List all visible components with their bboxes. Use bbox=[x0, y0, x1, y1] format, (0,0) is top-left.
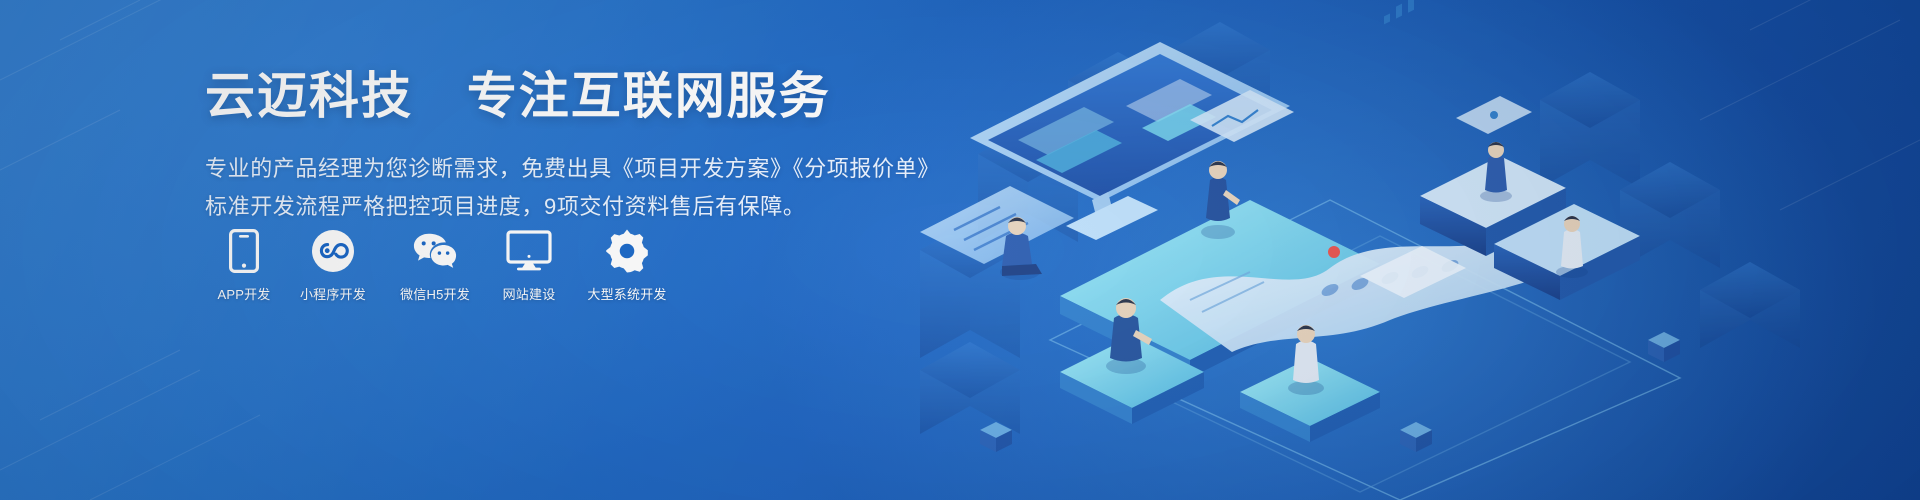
mobile-phone-icon bbox=[221, 228, 267, 274]
hero-banner: 云迈科技 专注互联网服务 专业的产品经理为您诊断需求，免费出具《项目开发方案》《… bbox=[0, 0, 1920, 500]
gear-icon bbox=[604, 228, 650, 274]
service-label: 大型系统开发 bbox=[587, 288, 666, 301]
subtitle-line-2: 标准开发流程严格把控项目进度，9项交付资料售后有保障。 bbox=[205, 188, 925, 226]
page-title: 云迈科技 专注互联网服务 bbox=[205, 68, 925, 124]
monitor-icon bbox=[506, 228, 552, 274]
service-label: 微信H5开发 bbox=[400, 288, 470, 301]
headline-tagline: 专注互联网服务 bbox=[467, 68, 831, 124]
floating-widget bbox=[1456, 96, 1532, 134]
service-item-website[interactable]: 网站建设 bbox=[487, 228, 571, 301]
headline-brand: 云迈科技 bbox=[205, 68, 413, 124]
wechat-icon bbox=[412, 228, 458, 274]
service-label: 小程序开发 bbox=[300, 288, 366, 301]
service-label: APP开发 bbox=[217, 288, 270, 301]
service-list: APP开发 小程序开发 bbox=[205, 228, 683, 301]
service-item-enterprise-system[interactable]: 大型系统开发 bbox=[571, 228, 683, 301]
mini-program-icon bbox=[310, 228, 356, 274]
service-label: 网站建设 bbox=[503, 288, 556, 301]
isometric-illustration bbox=[860, 0, 1920, 500]
subtitle-line-1: 专业的产品经理为您诊断需求，免费出具《项目开发方案》《分项报价单》 bbox=[205, 150, 925, 188]
service-item-wechat[interactable]: 微信H5开发 bbox=[383, 228, 487, 301]
service-item-app[interactable]: APP开发 bbox=[205, 228, 283, 301]
service-item-miniprogram[interactable]: 小程序开发 bbox=[283, 228, 383, 301]
ribbon-accent-dot bbox=[1328, 246, 1340, 258]
hero-copy: 云迈科技 专注互联网服务 专业的产品经理为您诊断需求，免费出具《项目开发方案》《… bbox=[205, 68, 925, 226]
